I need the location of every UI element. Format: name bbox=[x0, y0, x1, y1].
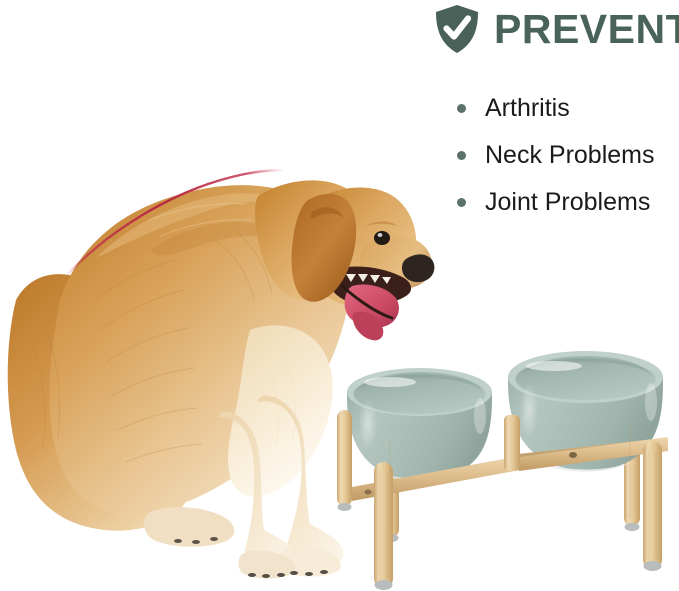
rail-front-right bbox=[519, 437, 668, 471]
bowl-right-rim bbox=[508, 351, 663, 403]
dog-muzzle bbox=[360, 235, 432, 289]
bowl-left-body bbox=[347, 392, 492, 480]
list-item: Arthritis bbox=[457, 85, 655, 132]
bowl-right-gloss-right bbox=[645, 383, 657, 421]
bowl-right bbox=[508, 351, 663, 472]
rail-center-post bbox=[504, 415, 520, 471]
dog-brow bbox=[366, 222, 398, 227]
stand-leg-rear-left bbox=[337, 410, 352, 511]
dog-nose bbox=[402, 254, 434, 282]
dog-ear-shade bbox=[310, 207, 344, 218]
rail-front-left bbox=[352, 456, 520, 501]
benefit-label: Arthritis bbox=[485, 96, 570, 121]
leg-front-right bbox=[643, 441, 662, 569]
list-item: Neck Problems bbox=[457, 132, 655, 179]
bowl-right-gloss-rim bbox=[526, 361, 582, 371]
leg-front-left bbox=[374, 462, 393, 588]
dog-front-leg-near bbox=[258, 395, 344, 570]
dog-rump bbox=[8, 274, 193, 531]
dog-shoulder-shade bbox=[150, 222, 290, 255]
dog-tongue bbox=[345, 284, 399, 327]
dog-eye bbox=[374, 231, 390, 245]
bowl-left-rim bbox=[347, 368, 492, 416]
dog-claws bbox=[248, 570, 328, 578]
bullet-dot-icon bbox=[457, 151, 466, 160]
dog-mouth bbox=[330, 266, 411, 304]
wood-grain bbox=[380, 424, 656, 580]
bowl-right-inner-shadow bbox=[519, 356, 652, 375]
bowl-right-gloss-side bbox=[520, 382, 538, 438]
rail-screw bbox=[569, 452, 577, 458]
dog-neck bbox=[255, 180, 370, 300]
product-marketing-image: PREVENT Arthritis Neck Problems Joint Pr… bbox=[0, 0, 679, 591]
foot-front-left bbox=[375, 580, 393, 590]
dog-tongue-lower bbox=[353, 312, 384, 341]
stand-back-legs bbox=[384, 418, 640, 542]
dog-chest bbox=[228, 325, 333, 496]
benefit-label: Neck Problems bbox=[485, 143, 655, 168]
bowl-left-base-ring bbox=[373, 470, 462, 481]
bowl-right-body bbox=[508, 377, 663, 471]
rail-screw-left bbox=[365, 490, 372, 495]
page-title: PREVENT bbox=[494, 9, 679, 50]
foot-front-right bbox=[644, 561, 662, 571]
bowl-left-inner-shadow bbox=[357, 372, 482, 390]
dog-rear-claws bbox=[174, 537, 218, 544]
dog-front-leg-far bbox=[218, 412, 296, 572]
dog-paw-far bbox=[238, 551, 295, 579]
bowl-left bbox=[347, 368, 492, 481]
bowl-left-gloss-rim bbox=[364, 377, 416, 387]
dog-body bbox=[49, 185, 350, 514]
bowl-right-base-ring bbox=[536, 460, 632, 472]
rail-back-right bbox=[509, 438, 663, 467]
prevent-header: PREVENT bbox=[433, 4, 679, 54]
shield-check-icon bbox=[433, 4, 481, 54]
dog-fur-texture-light bbox=[150, 204, 295, 446]
dog-rear-paw bbox=[144, 507, 234, 547]
dog-eye-glint bbox=[378, 233, 383, 237]
dog-back-sheen-2 bbox=[96, 193, 296, 258]
stand-front-legs bbox=[374, 441, 662, 590]
benefit-list: Arthritis Neck Problems Joint Problems bbox=[457, 85, 655, 226]
dog-teeth bbox=[346, 274, 391, 284]
dog-fur-texture bbox=[34, 232, 272, 462]
stand-frame-rails bbox=[352, 415, 668, 501]
dog-head bbox=[305, 187, 417, 306]
dog-ear bbox=[292, 194, 357, 302]
bowl-right-interior bbox=[516, 358, 656, 400]
bullet-dot-icon bbox=[457, 198, 466, 207]
benefit-label: Joint Problems bbox=[485, 190, 650, 215]
bowl-left-gloss-side bbox=[359, 398, 377, 450]
dog-paw-near bbox=[280, 547, 341, 577]
list-item: Joint Problems bbox=[457, 179, 655, 226]
dog-jaw-line bbox=[336, 280, 392, 318]
bullet-dot-icon bbox=[457, 104, 466, 113]
red-posture-curve bbox=[68, 170, 282, 274]
bowl-left-interior bbox=[354, 374, 486, 414]
bowl-left-gloss-right bbox=[474, 398, 486, 434]
